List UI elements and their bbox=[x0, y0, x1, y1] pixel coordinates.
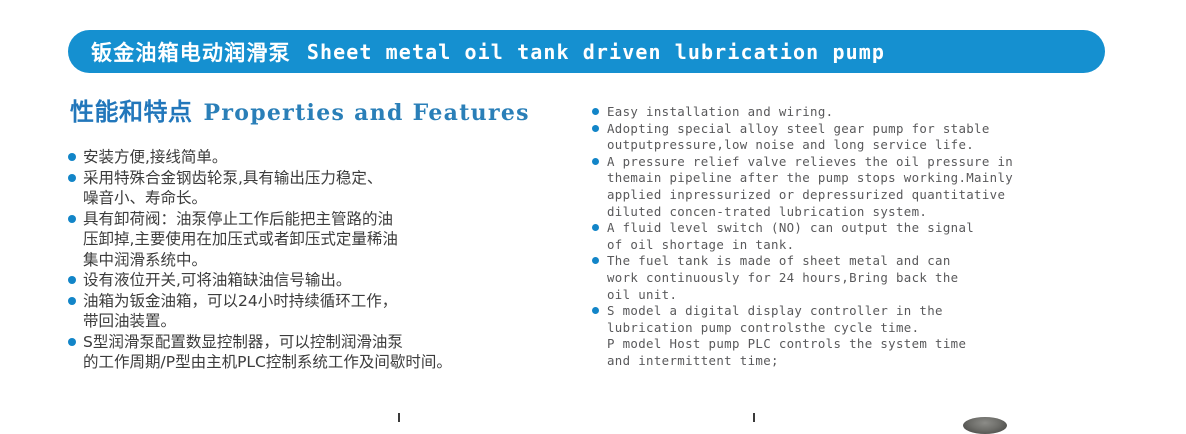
feature-cn-item: 安装方便,接线简单。 bbox=[68, 147, 568, 168]
section-heading: 性能和特点 Properties and Features bbox=[70, 92, 530, 127]
feature-en-item-text: A pressure relief valve relieves the oil… bbox=[607, 154, 1013, 219]
bullet-dot-icon bbox=[592, 108, 599, 115]
bullet-dot-icon bbox=[592, 125, 599, 132]
features-list-english: Easy installation and wiring.Adopting sp… bbox=[592, 104, 1137, 370]
bullet-dot-icon bbox=[68, 215, 76, 223]
feature-cn-item: 具有卸荷阀：油泵停止工作后能把主管路的油 压卸掉,主要使用在加压式或者卸压式定量… bbox=[68, 209, 568, 271]
bullet-dot-icon bbox=[68, 338, 76, 346]
feature-cn-item-text: 具有卸荷阀：油泵停止工作后能把主管路的油 压卸掉,主要使用在加压式或者卸压式定量… bbox=[83, 210, 398, 269]
feature-cn-item-text: 油箱为钣金油箱，可以24小时持续循环工作， 带回油装置。 bbox=[83, 292, 397, 331]
feature-en-item: The fuel tank is made of sheet metal and… bbox=[592, 253, 1137, 303]
feature-cn-item: 油箱为钣金油箱，可以24小时持续循环工作， 带回油装置。 bbox=[68, 291, 568, 332]
bullet-dot-icon bbox=[68, 276, 76, 284]
feature-en-item-text: Easy installation and wiring. bbox=[607, 104, 833, 119]
feature-cn-item: S型润滑泵配置数显控制器，可以控制润滑油泵 的工作周期/P型由主机PLC控制系统… bbox=[68, 332, 568, 373]
bullet-dot-icon bbox=[68, 174, 76, 182]
product-title-banner: 钣金油箱电动润滑泵 Sheet metal oil tank driven lu… bbox=[68, 30, 1105, 73]
feature-en-item: A fluid level switch (NO) can output the… bbox=[592, 220, 1137, 253]
feature-cn-item: 设有液位开关,可将油箱缺油信号输出。 bbox=[68, 270, 568, 291]
bullet-dot-icon bbox=[592, 158, 599, 165]
feature-cn-item: 采用特殊合金钢齿轮泵,具有输出压力稳定、 噪音小、寿命长。 bbox=[68, 168, 568, 209]
features-list-chinese: 安装方便,接线简单。采用特殊合金钢齿轮泵,具有输出压力稳定、 噪音小、寿命长。具… bbox=[68, 147, 568, 373]
feature-cn-item-text: S型润滑泵配置数显控制器，可以控制润滑油泵 的工作周期/P型由主机PLC控制系统… bbox=[83, 333, 452, 372]
bullet-dot-icon bbox=[68, 297, 76, 305]
feature-en-item-text: S model a digital display controller in … bbox=[607, 303, 966, 368]
product-title-chinese: 钣金油箱电动润滑泵 bbox=[91, 37, 291, 67]
feature-cn-item-text: 采用特殊合金钢齿轮泵,具有输出压力稳定、 噪音小、寿命长。 bbox=[83, 169, 382, 208]
bullet-dot-icon bbox=[68, 153, 76, 161]
alignment-tick-mark bbox=[398, 413, 400, 422]
section-heading-chinese: 性能和特点 bbox=[70, 92, 193, 127]
section-heading-english: Properties and Features bbox=[204, 100, 530, 126]
alignment-tick-mark bbox=[753, 413, 755, 422]
product-photo-top-edge bbox=[963, 417, 1007, 434]
feature-en-item-text: A fluid level switch (NO) can output the… bbox=[607, 220, 974, 252]
feature-en-item-text: The fuel tank is made of sheet metal and… bbox=[607, 253, 958, 301]
feature-en-item: A pressure relief valve relieves the oil… bbox=[592, 154, 1137, 220]
feature-cn-item-text: 设有液位开关,可将油箱缺油信号输出。 bbox=[83, 271, 351, 289]
bullet-dot-icon bbox=[592, 257, 599, 264]
product-title-english: Sheet metal oil tank driven lubrication … bbox=[307, 40, 885, 64]
bullet-dot-icon bbox=[592, 224, 599, 231]
feature-cn-item-text: 安装方便,接线简单。 bbox=[83, 148, 227, 166]
feature-en-item-text: Adopting special alloy steel gear pump f… bbox=[607, 121, 990, 153]
feature-en-item: S model a digital display controller in … bbox=[592, 303, 1137, 369]
feature-en-item: Adopting special alloy steel gear pump f… bbox=[592, 121, 1137, 154]
feature-en-item: Easy installation and wiring. bbox=[592, 104, 1137, 121]
bullet-dot-icon bbox=[592, 307, 599, 314]
